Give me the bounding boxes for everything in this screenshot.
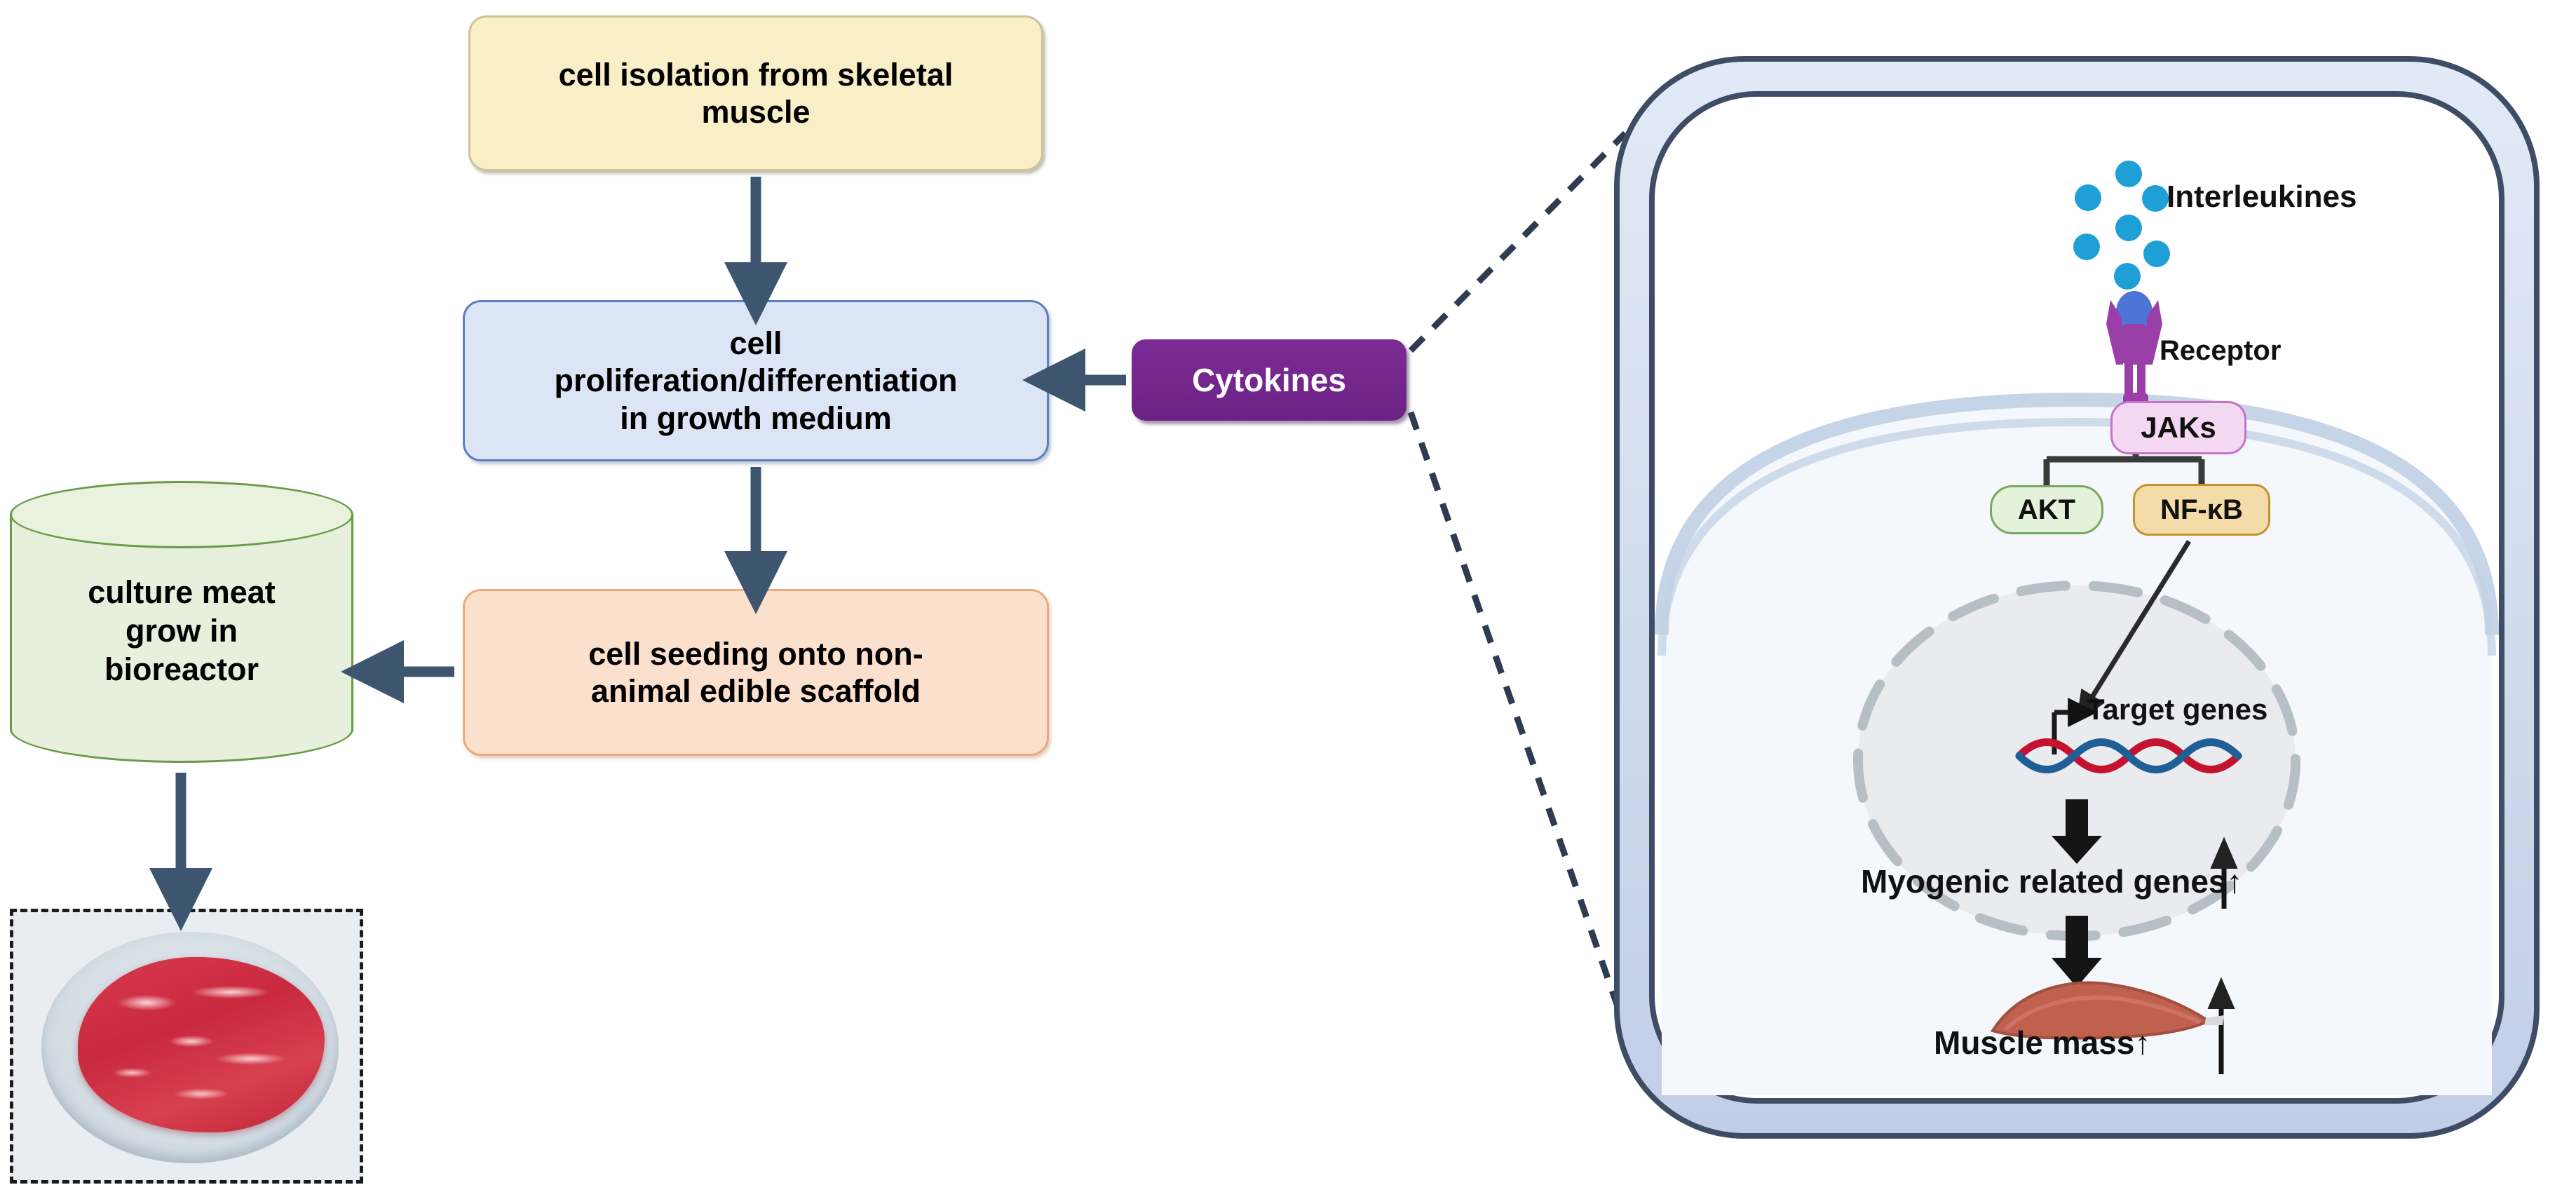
nfkb-node: NF-κB: [2133, 484, 2270, 536]
zoom-connector-lines: [1411, 133, 1625, 1008]
muscle-mass-label: Muscle mass↑: [1934, 1024, 2150, 1062]
zoom-connector-bottom: [1411, 412, 1618, 1008]
target-genes-label: Target genes: [2087, 693, 2267, 726]
flow-arrows: [181, 177, 1126, 893]
bioreactor-label-line2: grow in: [126, 613, 238, 649]
interleukine-dot: [2142, 185, 2169, 212]
myogenic-related-genes-label: Myogenic related genes↑: [1861, 862, 2243, 900]
bioreactor-label: culture meat grow in bioreactor: [10, 574, 353, 689]
interleukine-dot: [2075, 184, 2101, 211]
zoom-connector-top: [1411, 133, 1625, 351]
diagram-canvas: cell isolation from skeletal muscle cell…: [0, 0, 2576, 1199]
bioreactor-label-line3: bioreactor: [104, 651, 259, 687]
interleukines-label: Interleukines: [2167, 179, 2357, 215]
interleukine-dot: [2115, 161, 2142, 187]
interleukine-dot: [2073, 233, 2100, 260]
jaks-node: JAKs: [2110, 401, 2246, 454]
akt-node: AKT: [1990, 485, 2103, 534]
interleukine-dot: [2143, 241, 2170, 267]
receptor-label: Receptor: [2160, 335, 2281, 367]
interleukine-dot: [2114, 263, 2141, 290]
interleukine-dot: [2115, 215, 2142, 241]
bioreactor-label-line1: culture meat: [88, 574, 276, 610]
